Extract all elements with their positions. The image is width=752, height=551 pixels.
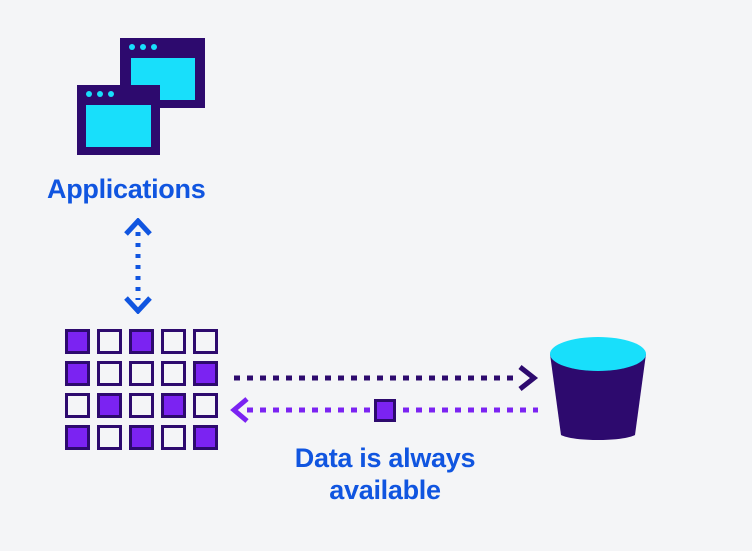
window-dot-icon [140, 44, 146, 50]
window-dot-icon [108, 91, 114, 97]
grid-cell [65, 329, 90, 354]
grid-cell [161, 329, 186, 354]
availability-caption-line2: available [255, 474, 515, 506]
read-flow-arrowhead [234, 399, 247, 421]
grid-cell [129, 361, 154, 386]
grid-cell [97, 425, 122, 450]
window-dots-back [129, 44, 157, 50]
window-screen-front [86, 105, 151, 147]
grid-cell [97, 361, 122, 386]
window-dot-icon [151, 44, 157, 50]
grid-cell [129, 329, 154, 354]
grid-cell [161, 361, 186, 386]
grid-cell [161, 425, 186, 450]
write-flow-arrowhead [520, 367, 534, 389]
grid-cell [129, 425, 154, 450]
availability-caption: Data is always available [255, 442, 515, 506]
grid-cell [193, 425, 218, 450]
storage-node-grid [65, 329, 218, 450]
window-dot-icon [86, 91, 92, 97]
grid-cell [193, 393, 218, 418]
data-bucket-icon [545, 332, 651, 440]
window-dot-icon [129, 44, 135, 50]
bucket-top-surface [550, 337, 646, 371]
data-block-in-transit [374, 399, 396, 422]
availability-caption-line1: Data is always [255, 442, 515, 474]
applications-label: Applications [47, 172, 205, 206]
double-headed-dashed-vertical-arrow-icon [112, 218, 164, 314]
grid-cell [161, 393, 186, 418]
grid-cell [129, 393, 154, 418]
grid-cell [193, 329, 218, 354]
grid-cell [65, 361, 90, 386]
application-windows-icon [70, 38, 210, 163]
grid-cell [97, 329, 122, 354]
grid-cell [97, 393, 122, 418]
grid-cell [193, 361, 218, 386]
grid-cell [65, 393, 90, 418]
diagram-canvas: Applications [0, 0, 752, 551]
window-dot-icon [97, 91, 103, 97]
app-window-front [77, 85, 160, 155]
grid-cell [65, 425, 90, 450]
window-dots-front [86, 91, 114, 97]
